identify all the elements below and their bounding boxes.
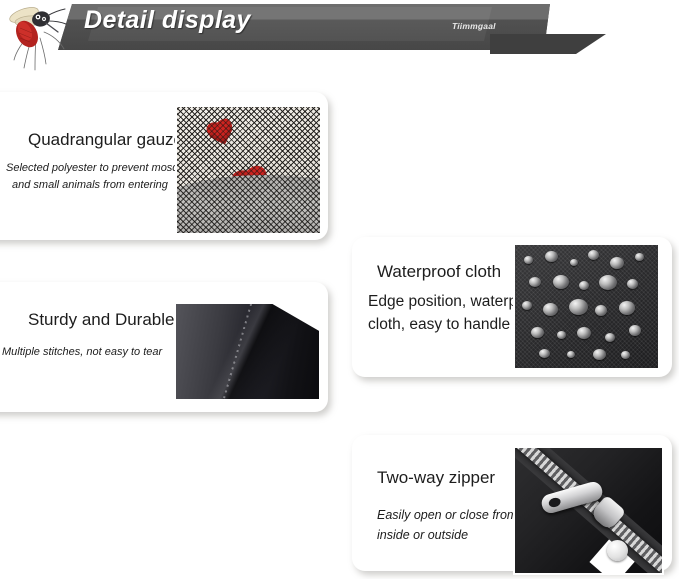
gauze-mesh-photo	[175, 105, 322, 235]
water-droplet	[557, 331, 566, 339]
water-droplet	[599, 275, 617, 290]
water-droplet	[531, 327, 544, 338]
water-droplet	[605, 333, 615, 342]
water-droplet	[627, 279, 638, 289]
mosquito-icon	[2, 2, 74, 74]
water-droplet	[539, 349, 550, 358]
card-subtitle-line1: Multiple stitches, not easy to tear	[2, 344, 162, 361]
card-title: Waterproof cloth	[377, 262, 501, 282]
banner-notch	[490, 34, 606, 54]
card-title: Sturdy and Durable	[28, 310, 174, 330]
card-subtitle-line2: and small animals from entering	[12, 177, 168, 194]
durable-fabric-photo	[176, 304, 319, 399]
water-droplet	[529, 277, 541, 287]
water-droplet	[543, 303, 558, 316]
water-droplet	[545, 251, 558, 262]
two-way-zipper-photo	[513, 446, 664, 575]
water-droplet	[621, 351, 630, 359]
water-droplet	[629, 325, 641, 336]
card-title: Two-way zipper	[377, 468, 495, 488]
water-droplet	[524, 256, 533, 264]
card-subtitle-line2: cloth, easy to handle	[368, 313, 510, 336]
water-droplet	[567, 351, 575, 358]
card-subtitle-line1: Easily open or close from	[377, 505, 517, 525]
brand-label: Tiimmgaal	[452, 21, 496, 31]
card-title: Quadrangular gauze	[28, 130, 183, 150]
zipper-grommet	[607, 540, 628, 561]
mesh-overlay	[177, 107, 320, 233]
water-droplet	[569, 299, 588, 315]
waterproof-droplets-photo	[513, 243, 660, 370]
water-droplet	[577, 327, 591, 339]
card-subtitle-line2: inside or outside	[377, 525, 468, 545]
zipper-pull-hole	[548, 496, 562, 508]
page-title: Detail display	[84, 6, 251, 35]
water-droplet	[588, 250, 599, 260]
water-droplet	[610, 257, 624, 269]
water-droplet	[635, 253, 644, 261]
water-droplet	[579, 281, 589, 290]
water-droplet	[595, 305, 607, 316]
header-banner: Detail display Tiimmgaal	[0, 0, 679, 62]
water-droplet	[593, 349, 606, 360]
water-droplet	[570, 259, 578, 266]
water-droplet	[619, 301, 635, 315]
water-droplet	[522, 301, 532, 310]
water-droplet	[553, 275, 569, 289]
fabric-corner-cut	[269, 304, 319, 332]
